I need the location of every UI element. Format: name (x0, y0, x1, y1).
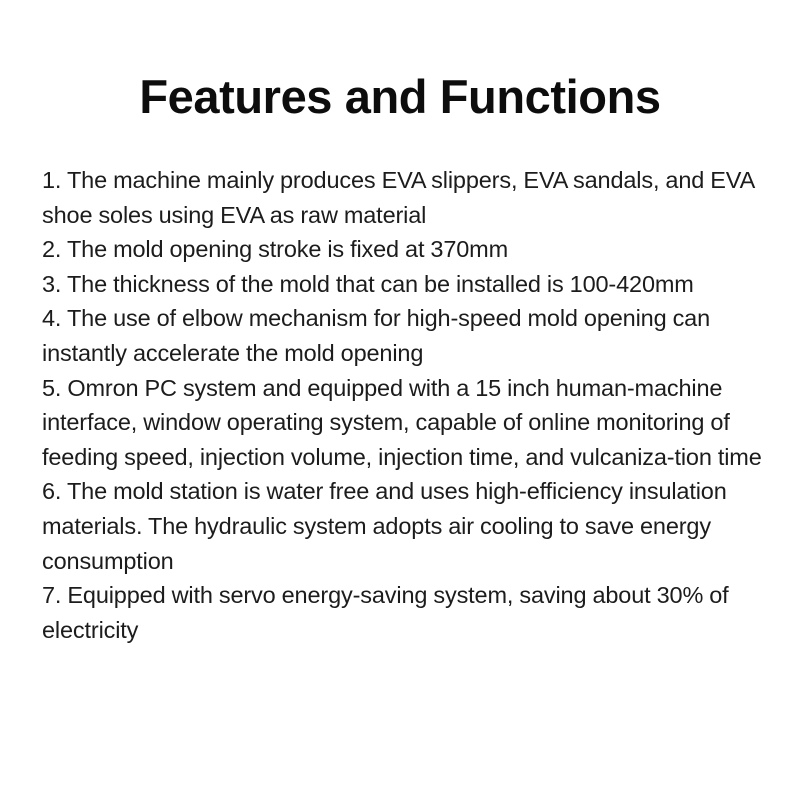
page-title: Features and Functions (0, 69, 800, 125)
list-item: 3. The thickness of the mold that can be… (42, 267, 784, 302)
list-item: 6. The mold station is water free and us… (42, 474, 784, 578)
list-item: 4. The use of elbow mechanism for high-s… (42, 301, 784, 370)
list-item: 5. Omron PC system and equipped with a 1… (42, 371, 784, 475)
list-item: 1. The machine mainly produces EVA slipp… (42, 163, 784, 232)
features-list: 1. The machine mainly produces EVA slipp… (42, 163, 784, 647)
document-page: Features and Functions 1. The machine ma… (0, 0, 800, 800)
list-item: 7. Equipped with servo energy-saving sys… (42, 578, 784, 647)
list-item: 2. The mold opening stroke is fixed at 3… (42, 232, 784, 267)
